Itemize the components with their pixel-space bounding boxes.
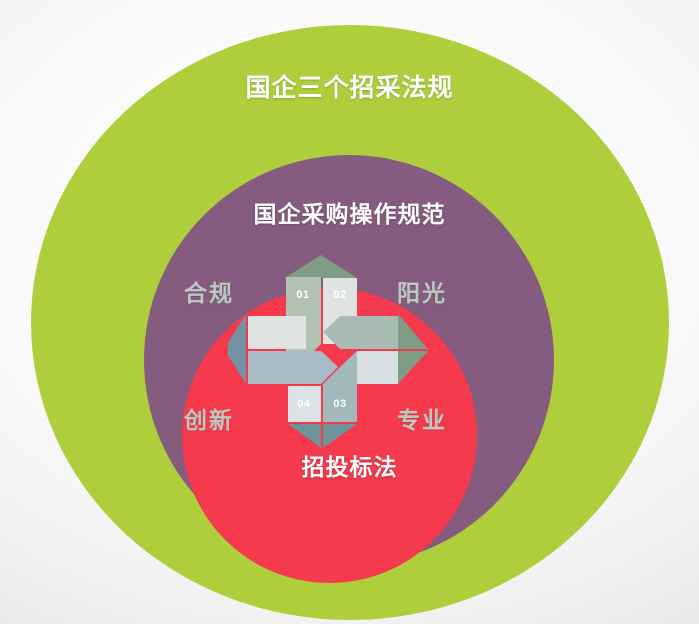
arrow-01-number: 01 (296, 289, 309, 301)
arrow-03-square (357, 351, 398, 384)
arrow-04-body (248, 351, 338, 384)
arrow-02-tip-lower (398, 351, 428, 384)
diagram-canvas: 国企三个招采法规 国企采购操作规范 招投标法 合规 阳光 创新 专业 01 (0, 0, 699, 624)
arrow-04-square (248, 316, 306, 349)
center-pinwheel-graphic: 01 02 03 (228, 252, 433, 452)
arrow-02-head (321, 255, 357, 278)
arrow-04-number: 04 (297, 398, 311, 410)
arrow-04-bottom-tip (288, 424, 321, 448)
keyword-top-left: 合规 (184, 274, 234, 308)
arrow-04-head (228, 314, 246, 384)
keyword-bottom-left: 创新 (184, 401, 234, 435)
arrow-03-head (323, 424, 357, 448)
pinwheel-arrow-04[interactable]: 04 (228, 314, 338, 448)
pinwheel-svg: 01 02 03 (228, 252, 433, 452)
ring-outer-title: 国企三个招采法规 (0, 68, 699, 104)
ring-inner-title: 招投标法 (0, 448, 699, 482)
arrow-02-number: 02 (333, 289, 346, 301)
arrow-02-tip (398, 314, 428, 349)
arrow-03-number: 03 (333, 398, 346, 410)
ring-middle-title: 国企采购操作规范 (0, 195, 699, 229)
